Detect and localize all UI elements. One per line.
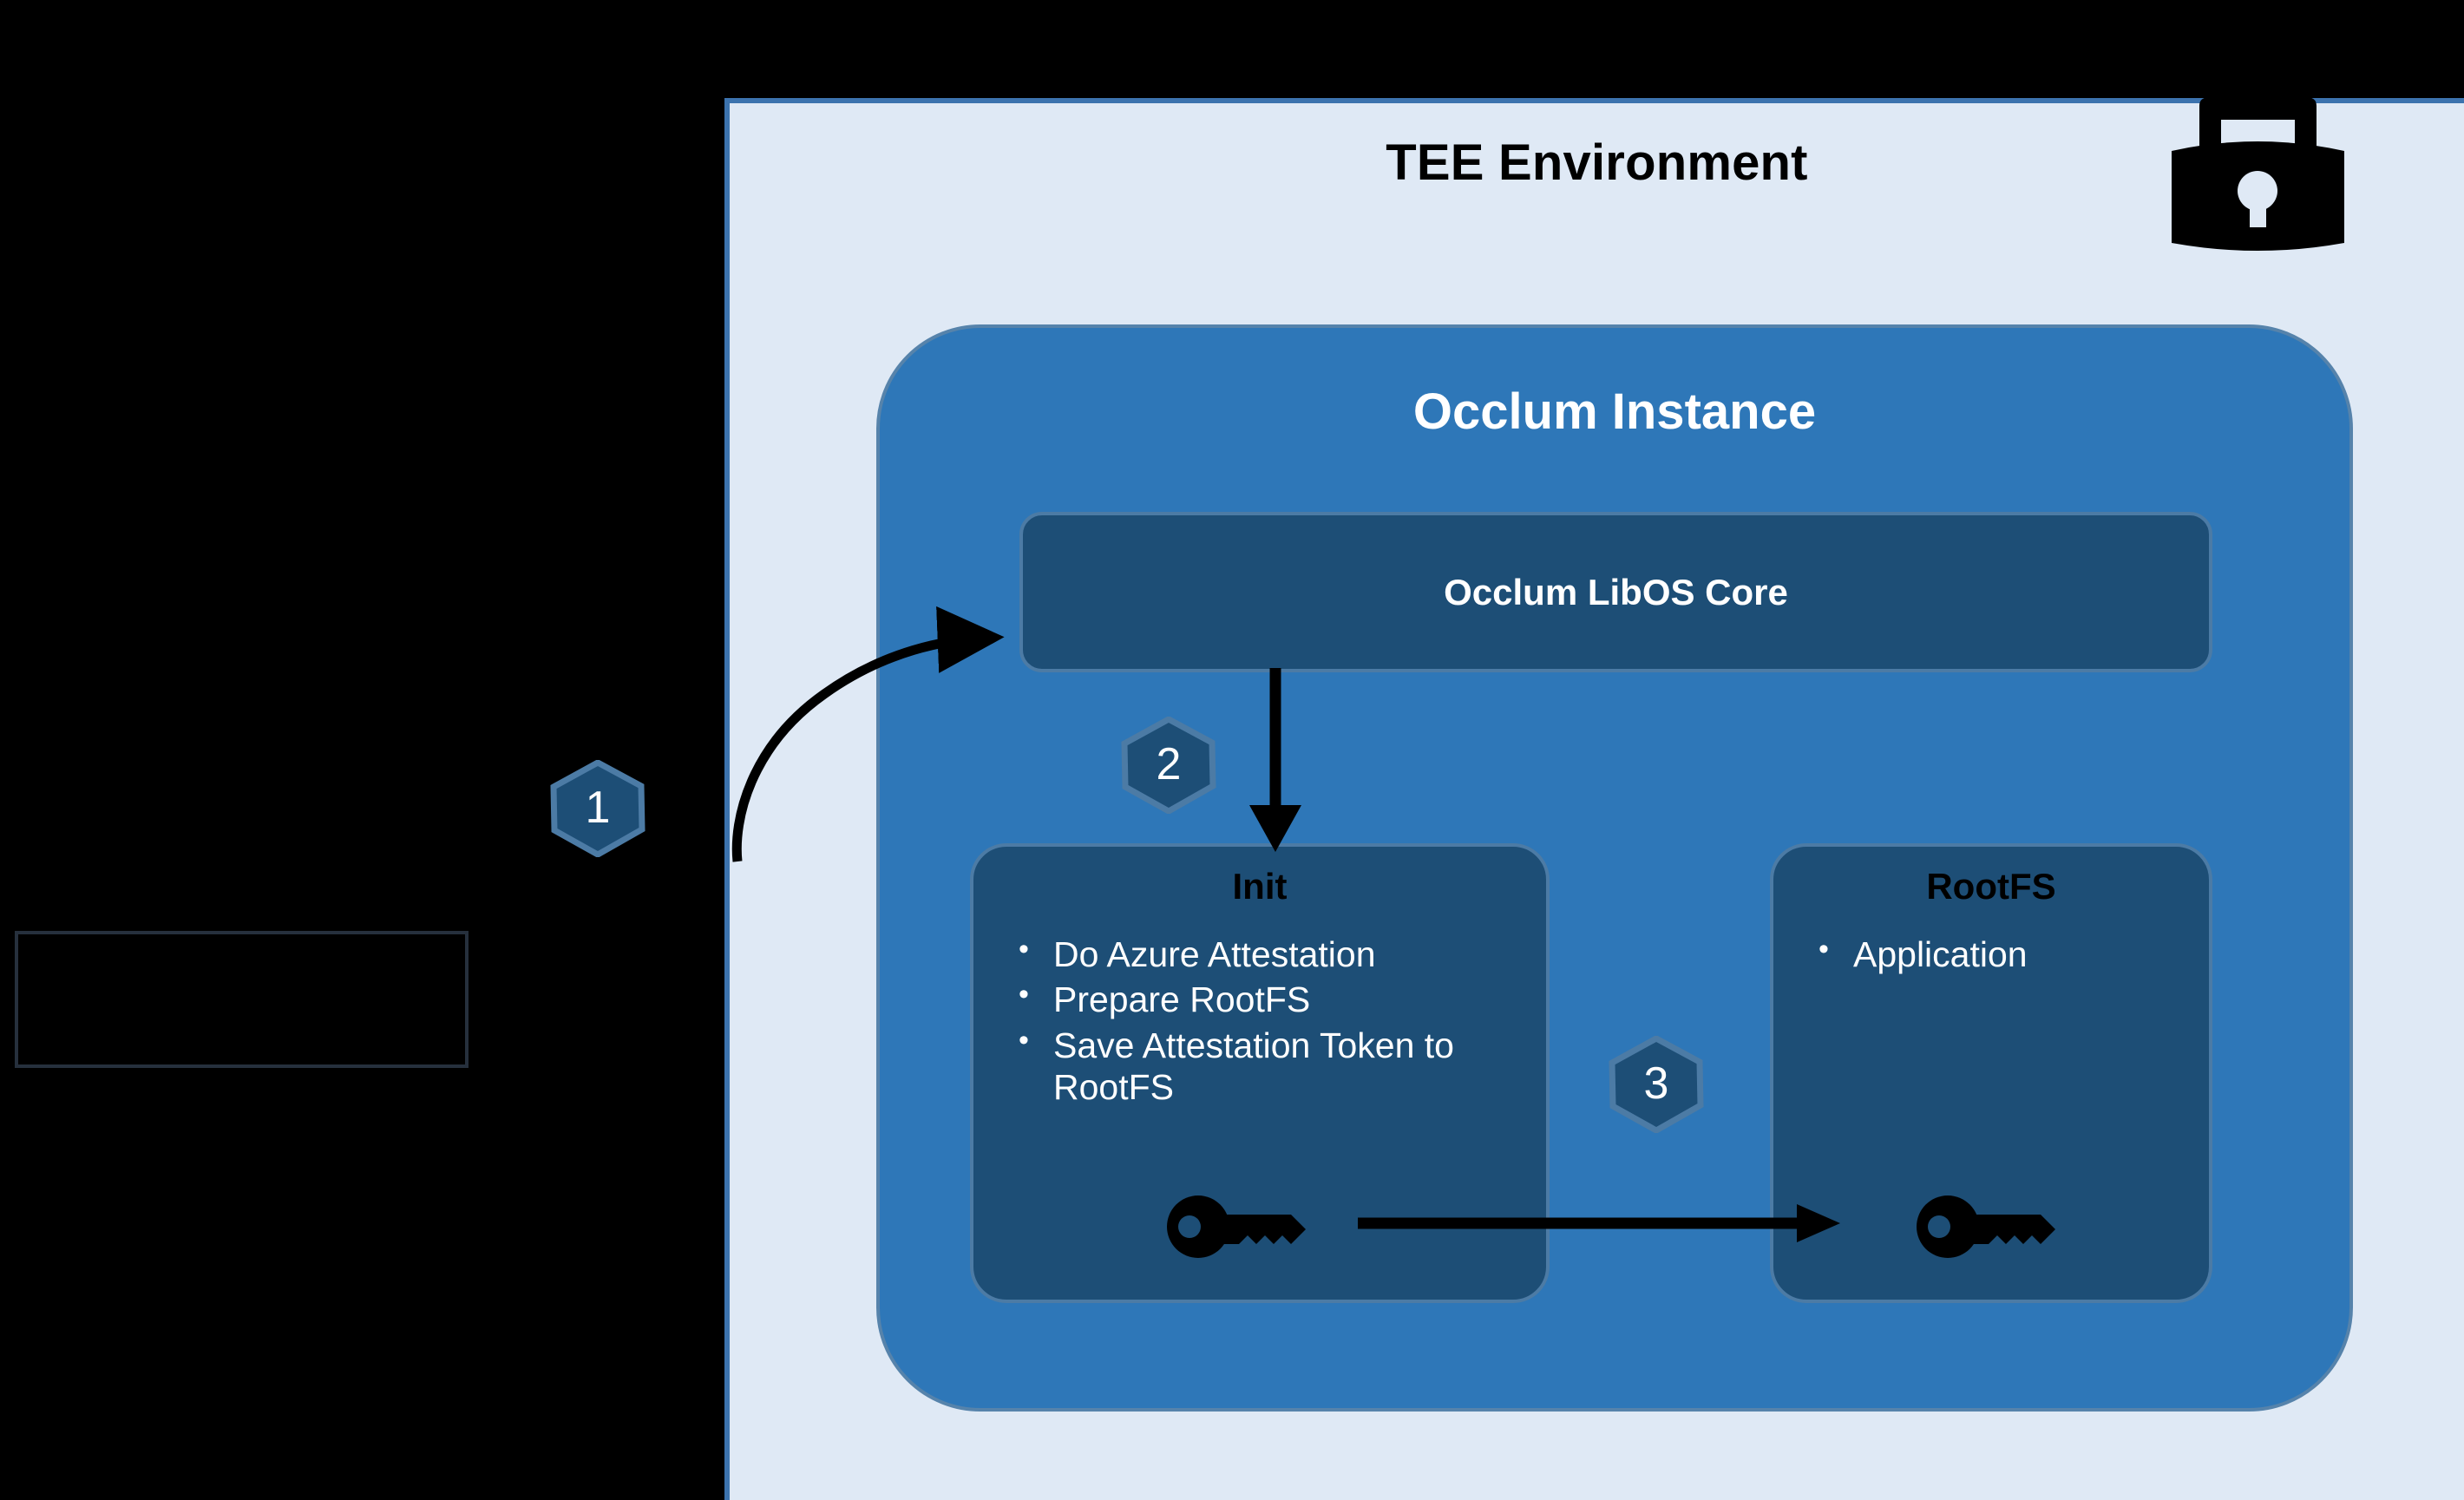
step-badge-2: 2: [1117, 717, 1220, 814]
step-badge-label: 3: [1605, 1036, 1707, 1133]
left-placeholder-box: [15, 931, 469, 1068]
list-item: Prepare RootFS: [998, 979, 1527, 1020]
list-item: Save Attestation Token to RootFS: [998, 1025, 1527, 1109]
init-title: Init: [973, 866, 1546, 907]
rootfs-title: RootFS: [1773, 866, 2209, 907]
rootfs-bullet-list: Application: [1798, 933, 2195, 979]
occlum-instance-title: Occlum Instance: [880, 383, 2349, 441]
init-bullet-list: Do Azure Attestation Prepare RootFS Save…: [998, 933, 1527, 1112]
list-item: Do Azure Attestation: [998, 933, 1527, 975]
step-badge-1: 1: [547, 760, 649, 857]
step-badge-label: 2: [1117, 717, 1220, 814]
step-badge-3: 3: [1605, 1036, 1707, 1133]
padlock-icon: [2165, 97, 2351, 253]
list-item: Application: [1798, 933, 2195, 975]
key-icon: [1917, 1195, 2073, 1258]
step-badge-label: 1: [547, 760, 649, 857]
key-icon: [1167, 1195, 1323, 1258]
occlum-libos-core-panel: Occlum LibOS Core: [1019, 512, 2212, 672]
diagram-canvas: TEE Environment Occlum Instance Occlum L…: [0, 0, 2464, 1500]
occlum-libos-core-title: Occlum LibOS Core: [1444, 572, 1788, 613]
